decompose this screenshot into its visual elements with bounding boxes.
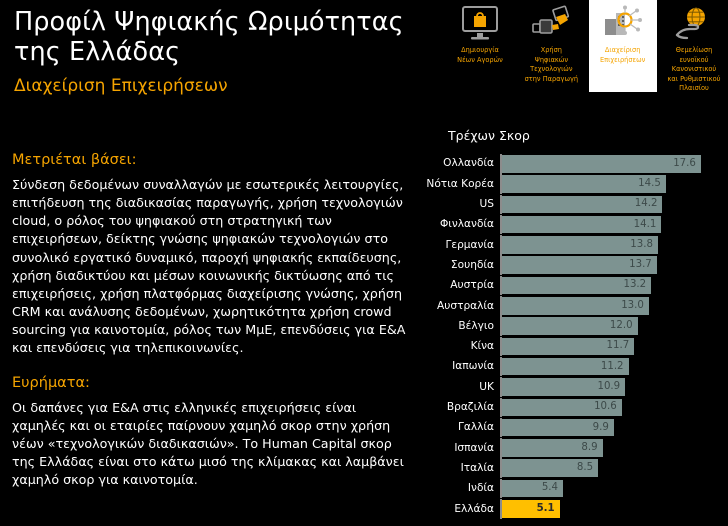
- pillar-label: Διαχείριση Επιχειρήσεων: [598, 46, 647, 65]
- chart-bar-track: 8.9: [500, 438, 728, 458]
- chart-bar-row: Βραζιλία10.6: [420, 398, 728, 418]
- chart-bar-value: 10.6: [594, 402, 622, 412]
- chart-bar-label: Αυστρία: [420, 280, 500, 291]
- chart-bar: 8.5: [502, 459, 598, 477]
- chart-bar-label: Σουηδία: [420, 260, 500, 271]
- chart-bar-track: 13.2: [500, 276, 728, 296]
- chart-bar: 14.2: [502, 196, 662, 214]
- chart-bar-label: Γαλλία: [420, 422, 500, 433]
- chart-bar-label: Αυστραλία: [420, 301, 500, 312]
- chart-bar-row: Ιταλία8.5: [420, 458, 728, 478]
- pillar-item-digital-production[interactable]: Χρήση Ψηφιακών Τεχνολογιών στην Παραγωγή: [517, 0, 585, 92]
- chart-bar-row: Βέλγιο12.0: [420, 316, 728, 336]
- chart-bar-value: 17.6: [673, 159, 701, 169]
- chart-bar-label: Ολλανδία: [420, 158, 500, 169]
- chart-bar-track: 5.1: [500, 499, 728, 519]
- chart-bar-value: 8.5: [577, 463, 598, 473]
- findings-section: Ευρήματα: Οι δαπάνες για Ε&Α στις ελληνι…: [12, 375, 412, 490]
- chart-plot-area: Ολλανδία17.6Νότια Κορέα14.5US14.2Φινλανδ…: [420, 154, 728, 520]
- pillar-label: Θεμελίωση ευνοϊκού Κανονιστικού και Ρυθμ…: [666, 46, 723, 94]
- left-content-column: Μετριέται βάσει: Σύνδεση δεδομένων συναλ…: [12, 152, 412, 503]
- chart-bar-value: 14.5: [638, 179, 666, 189]
- page-title: Προφίλ Ψηφιακής Ωριμότητας της Ελλάδας: [14, 8, 434, 68]
- chart-bar-track: 17.6: [500, 154, 728, 174]
- chart-bar: 11.2: [502, 358, 629, 376]
- header: Προφίλ Ψηφιακής Ωριμότητας της Ελλάδας Δ…: [14, 8, 434, 96]
- chart-bar: 14.1: [502, 216, 661, 234]
- chart-bar: 9.9: [502, 419, 614, 437]
- chart-bar: 5.4: [502, 480, 563, 498]
- chart-bar-label: Βέλγιο: [420, 321, 500, 332]
- chart-bar: 10.6: [502, 399, 622, 417]
- chart-bar-row: Γερμανία13.8: [420, 235, 728, 255]
- chart-bar-label: Φινλανδία: [420, 219, 500, 230]
- chart-bar-track: 11.2: [500, 357, 728, 377]
- chart-bar-row: Ελλάδα5.1: [420, 499, 728, 519]
- chart-bar-row: Φινλανδία14.1: [420, 215, 728, 235]
- chart-bar: 12.0: [502, 317, 638, 335]
- chart-bar-row: US14.2: [420, 195, 728, 215]
- chart-bar: 11.7: [502, 338, 634, 356]
- chart-bar: 13.7: [502, 256, 657, 274]
- chart-bar-row: Σουηδία13.7: [420, 255, 728, 275]
- chart-bar-row: Γαλλία9.9: [420, 418, 728, 438]
- chart-bar-track: 10.6: [500, 398, 728, 418]
- pillar-nav: Δημιουργία Νέων Αγορών Χρήση Ψηφιακών Τε…: [446, 0, 728, 110]
- current-score-chart: Τρέχων Σκορ Ολλανδία17.6Νότια Κορέα14.5U…: [420, 126, 728, 524]
- chart-bar-value: 5.1: [537, 504, 560, 514]
- chart-bar-track: 9.9: [500, 418, 728, 438]
- chart-bar-track: 5.4: [500, 479, 728, 499]
- chart-bar-label: Ελλάδα: [420, 504, 500, 515]
- chart-bar-value: 14.2: [635, 199, 663, 209]
- chart-bar-label: Νότια Κορέα: [420, 179, 500, 190]
- robot-arm-icon: [528, 4, 574, 42]
- chart-bar-value: 9.9: [593, 423, 614, 433]
- chart-bar-value: 14.1: [634, 220, 662, 230]
- chart-bar-value: 13.7: [629, 260, 657, 270]
- monitor-shopping-bag-icon: [457, 4, 503, 42]
- chart-bar-track: 13.8: [500, 235, 728, 255]
- chart-bar: 5.1: [502, 500, 560, 518]
- chart-bar-track: 14.1: [500, 215, 728, 235]
- chart-bar-track: 13.0: [500, 296, 728, 316]
- chart-bar-label: Γερμανία: [420, 240, 500, 251]
- chart-bar-value: 13.8: [630, 240, 658, 250]
- chart-bar-value: 11.7: [607, 341, 635, 351]
- chart-bar-value: 13.0: [621, 301, 649, 311]
- chart-bar: 13.8: [502, 236, 658, 254]
- chart-bar-row: Νότια Κορέα14.5: [420, 174, 728, 194]
- pillar-label: Χρήση Ψηφιακών Τεχνολογιών στην Παραγωγή: [523, 46, 580, 84]
- chart-bar-track: 14.5: [500, 174, 728, 194]
- pillar-item-regulatory-framework[interactable]: Θεμελίωση ευνοϊκού Κανονιστικού και Ρυθμ…: [660, 0, 728, 94]
- section-body: Οι δαπάνες για Ε&Α στις ελληνικές επιχει…: [12, 399, 412, 489]
- chart-bar-track: 10.9: [500, 377, 728, 397]
- chart-bar-row: Ισπανία8.9: [420, 438, 728, 458]
- slide-root: Προφίλ Ψηφιακής Ωριμότητας της Ελλάδας Δ…: [0, 0, 728, 526]
- chart-bar: 13.0: [502, 297, 649, 315]
- chart-bar-value: 5.4: [542, 483, 563, 493]
- chart-bar-value: 10.9: [597, 382, 625, 392]
- section-body: Σύνδεση δεδομένων συναλλαγών με εσωτερικ…: [12, 176, 412, 356]
- page-subtitle: Διαχείριση Επιχειρήσεων: [14, 77, 434, 97]
- pillar-item-business-management[interactable]: Διαχείριση Επιχειρήσεων: [589, 0, 657, 92]
- chart-bar-label: Ιαπωνία: [420, 361, 500, 372]
- chart-bar: 13.2: [502, 277, 651, 295]
- chart-bar-label: Κίνα: [420, 341, 500, 352]
- chart-bar-label: Ινδία: [420, 483, 500, 494]
- chart-bar-track: 13.7: [500, 255, 728, 275]
- section-heading: Μετριέται βάσει:: [12, 152, 412, 169]
- chart-bar-label: UK: [420, 382, 500, 393]
- chart-bar-track: 14.2: [500, 195, 728, 215]
- chart-bar-label: US: [420, 199, 500, 210]
- chart-bar: 10.9: [502, 378, 625, 396]
- chart-bar: 14.5: [502, 175, 666, 193]
- chart-bar-row: Ολλανδία17.6: [420, 154, 728, 174]
- chart-bar-track: 11.7: [500, 337, 728, 357]
- chart-bar-row: UK10.9: [420, 377, 728, 397]
- chart-bar-label: Ιταλία: [420, 463, 500, 474]
- chart-bar-row: Κίνα11.7: [420, 337, 728, 357]
- chart-bar: 8.9: [502, 439, 603, 457]
- chart-bar-track: 12.0: [500, 316, 728, 336]
- chart-bar-row: Αυστραλία13.0: [420, 296, 728, 316]
- section-heading: Ευρήματα:: [12, 375, 412, 392]
- pillar-label: Δημιουργία Νέων Αγορών: [455, 46, 505, 65]
- hand-globe-icon: [671, 4, 717, 42]
- chart-bar-value: 11.2: [601, 362, 629, 372]
- chart-title: Τρέχων Σκορ: [448, 128, 530, 143]
- pillar-item-new-markets[interactable]: Δημιουργία Νέων Αγορών: [446, 0, 514, 92]
- chart-bar-row: Αυστρία13.2: [420, 276, 728, 296]
- factory-network-icon: [600, 4, 646, 42]
- chart-bar-label: Βραζιλία: [420, 402, 500, 413]
- chart-bar: 17.6: [502, 155, 701, 173]
- chart-bar-value: 12.0: [610, 321, 638, 331]
- chart-bar-track: 8.5: [500, 458, 728, 478]
- chart-bar-label: Ισπανία: [420, 443, 500, 454]
- chart-bar-value: 8.9: [581, 443, 602, 453]
- chart-bar-value: 13.2: [623, 280, 651, 290]
- measured-by-section: Μετριέται βάσει: Σύνδεση δεδομένων συναλ…: [12, 152, 412, 357]
- chart-bar-row: Ιαπωνία11.2: [420, 357, 728, 377]
- chart-bar-row: Ινδία5.4: [420, 479, 728, 499]
